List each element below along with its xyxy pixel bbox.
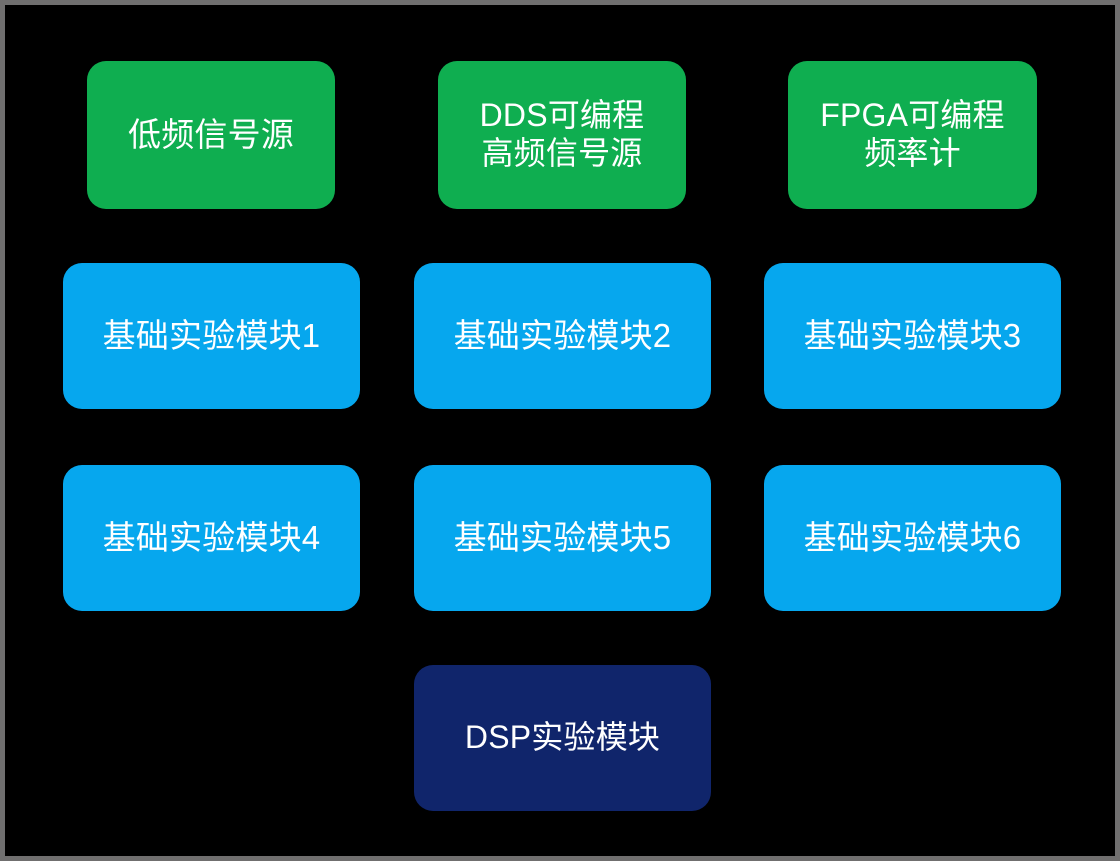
node-basic-experiment-module-5[interactable]: 基础实验模块5 — [414, 465, 711, 611]
node-label-dds-programmable-high-freq-signal-source: DDS可编程 高频信号源 — [438, 97, 686, 173]
node-label-basic-experiment-module-6: 基础实验模块6 — [764, 519, 1061, 558]
node-dds-programmable-high-freq-signal-source[interactable]: DDS可编程 高频信号源 — [438, 61, 686, 209]
node-basic-experiment-module-4[interactable]: 基础实验模块4 — [63, 465, 360, 611]
node-label-basic-experiment-module-4: 基础实验模块4 — [63, 519, 360, 558]
node-basic-experiment-module-6[interactable]: 基础实验模块6 — [764, 465, 1061, 611]
node-fpga-programmable-frequency-counter[interactable]: FPGA可编程 频率计 — [788, 61, 1037, 209]
node-label-basic-experiment-module-2: 基础实验模块2 — [414, 317, 711, 356]
node-basic-experiment-module-1[interactable]: 基础实验模块1 — [63, 263, 360, 409]
block-diagram-canvas: 低频信号源DDS可编程 高频信号源FPGA可编程 频率计基础实验模块1基础实验模… — [0, 0, 1120, 861]
node-dsp-experiment-module[interactable]: DSP实验模块 — [414, 665, 711, 811]
node-basic-experiment-module-3[interactable]: 基础实验模块3 — [764, 263, 1061, 409]
node-basic-experiment-module-2[interactable]: 基础实验模块2 — [414, 263, 711, 409]
node-label-basic-experiment-module-3: 基础实验模块3 — [764, 317, 1061, 356]
node-label-low-freq-signal-source: 低频信号源 — [87, 116, 335, 155]
node-label-basic-experiment-module-1: 基础实验模块1 — [63, 317, 360, 356]
node-low-freq-signal-source[interactable]: 低频信号源 — [87, 61, 335, 209]
node-label-basic-experiment-module-5: 基础实验模块5 — [414, 519, 711, 558]
node-label-fpga-programmable-frequency-counter: FPGA可编程 频率计 — [788, 97, 1037, 173]
node-label-dsp-experiment-module: DSP实验模块 — [414, 719, 711, 757]
